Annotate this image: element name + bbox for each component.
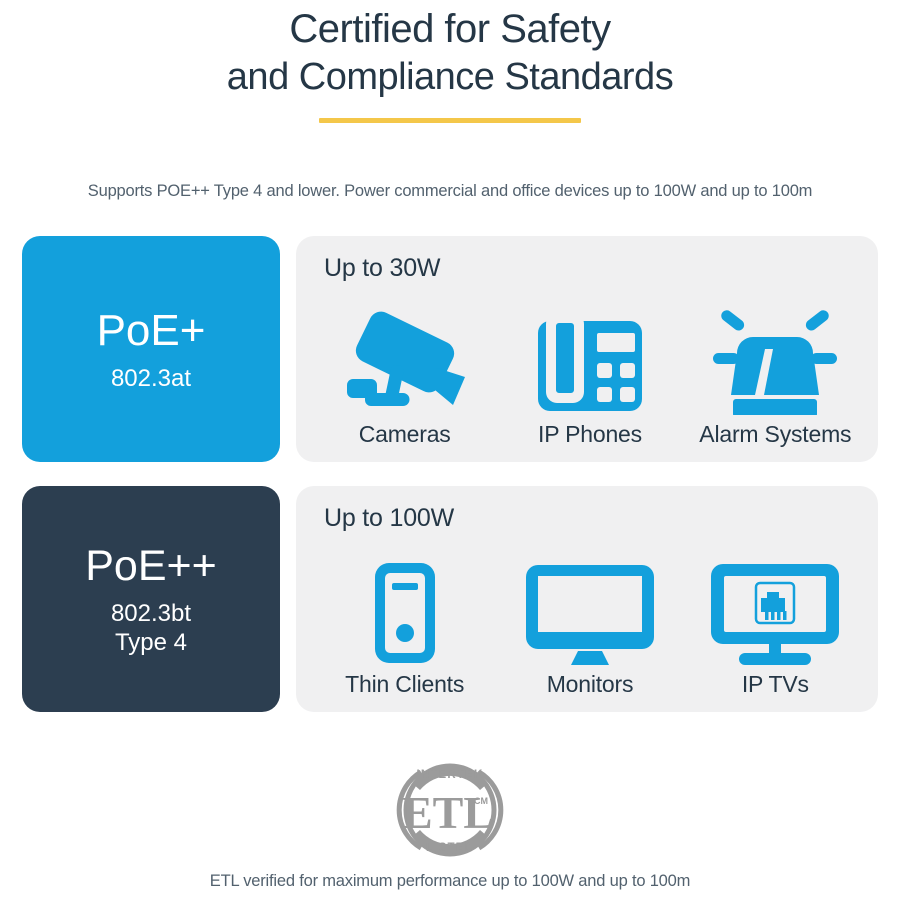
monitor-icon xyxy=(524,553,656,665)
device-label-thin-clients: Thin Clients xyxy=(345,671,464,698)
etl-logo-bottom-text: LISTED xyxy=(426,842,474,854)
ip-tv-rj45-icon xyxy=(709,553,841,665)
device-item-ip-tvs: IP TVs xyxy=(683,553,868,698)
badge-standard-line-2: Type 4 xyxy=(111,628,191,657)
etl-logo-cm-mark: CM xyxy=(474,796,488,806)
security-camera-icon xyxy=(341,303,469,415)
poe-plus-devices-panel: Up to 30W Cameras xyxy=(296,236,878,462)
badge-poe-plus: PoE+ 802.3at xyxy=(22,236,280,462)
page-title-line-1: Certified for Safety xyxy=(0,4,900,54)
poe-plus-wattage-heading: Up to 30W xyxy=(324,254,440,283)
poe-plus-plus-devices-panel: Up to 100W Thin Clients xyxy=(296,486,878,712)
poe-plus-device-list: Cameras xyxy=(312,288,868,448)
etl-listed-logo: INTERTEK LISTED ETL CM xyxy=(0,752,900,868)
poe-plus-plus-row: PoE++ 802.3bt Type 4 Up to 100W Thi xyxy=(22,486,878,712)
poe-plus-plus-wattage-heading: Up to 100W xyxy=(324,504,454,533)
header: Certified for Safety and Compliance Stan… xyxy=(0,0,900,123)
etl-logo-center-text: ETL xyxy=(402,787,494,838)
alarm-siren-icon xyxy=(705,303,845,415)
page-title-line-2: and Compliance Standards xyxy=(0,52,900,102)
device-label-ip-tvs: IP TVs xyxy=(742,671,809,698)
badge-poe-plus-plus-standard: 802.3bt Type 4 xyxy=(111,599,191,657)
title-underline-accent xyxy=(319,118,581,123)
device-item-cameras: Cameras xyxy=(312,303,497,448)
etl-logo-graphic: INTERTEK LISTED ETL CM xyxy=(387,752,513,868)
badge-poe-plus-standard: 802.3at xyxy=(111,364,191,393)
subtitle-text: Supports POE++ Type 4 and lower. Power c… xyxy=(0,182,900,201)
device-label-alarm-systems: Alarm Systems xyxy=(699,421,851,448)
badge-poe-plus-title: PoE+ xyxy=(97,306,206,356)
poe-plus-plus-device-list: Thin Clients Monitors xyxy=(312,538,868,698)
etl-caption-text: ETL verified for maximum performance up … xyxy=(0,872,900,891)
badge-poe-plus-plus: PoE++ 802.3bt Type 4 xyxy=(22,486,280,712)
device-item-thin-clients: Thin Clients xyxy=(312,553,497,698)
device-item-ip-phones: IP Phones xyxy=(497,303,682,448)
badge-poe-plus-plus-title: PoE++ xyxy=(85,541,217,591)
device-item-alarm-systems: Alarm Systems xyxy=(683,303,868,448)
ip-phone-icon xyxy=(535,303,645,415)
badge-standard-line-1: 802.3bt xyxy=(111,599,191,628)
device-label-cameras: Cameras xyxy=(359,421,451,448)
device-item-monitors: Monitors xyxy=(497,553,682,698)
device-label-monitors: Monitors xyxy=(547,671,634,698)
etl-logo-top-text: INTERTEK xyxy=(416,769,483,781)
poe-plus-row: PoE+ 802.3at Up to 30W Cameras xyxy=(22,236,878,462)
device-label-ip-phones: IP Phones xyxy=(538,421,642,448)
thin-client-tower-icon xyxy=(373,553,437,665)
